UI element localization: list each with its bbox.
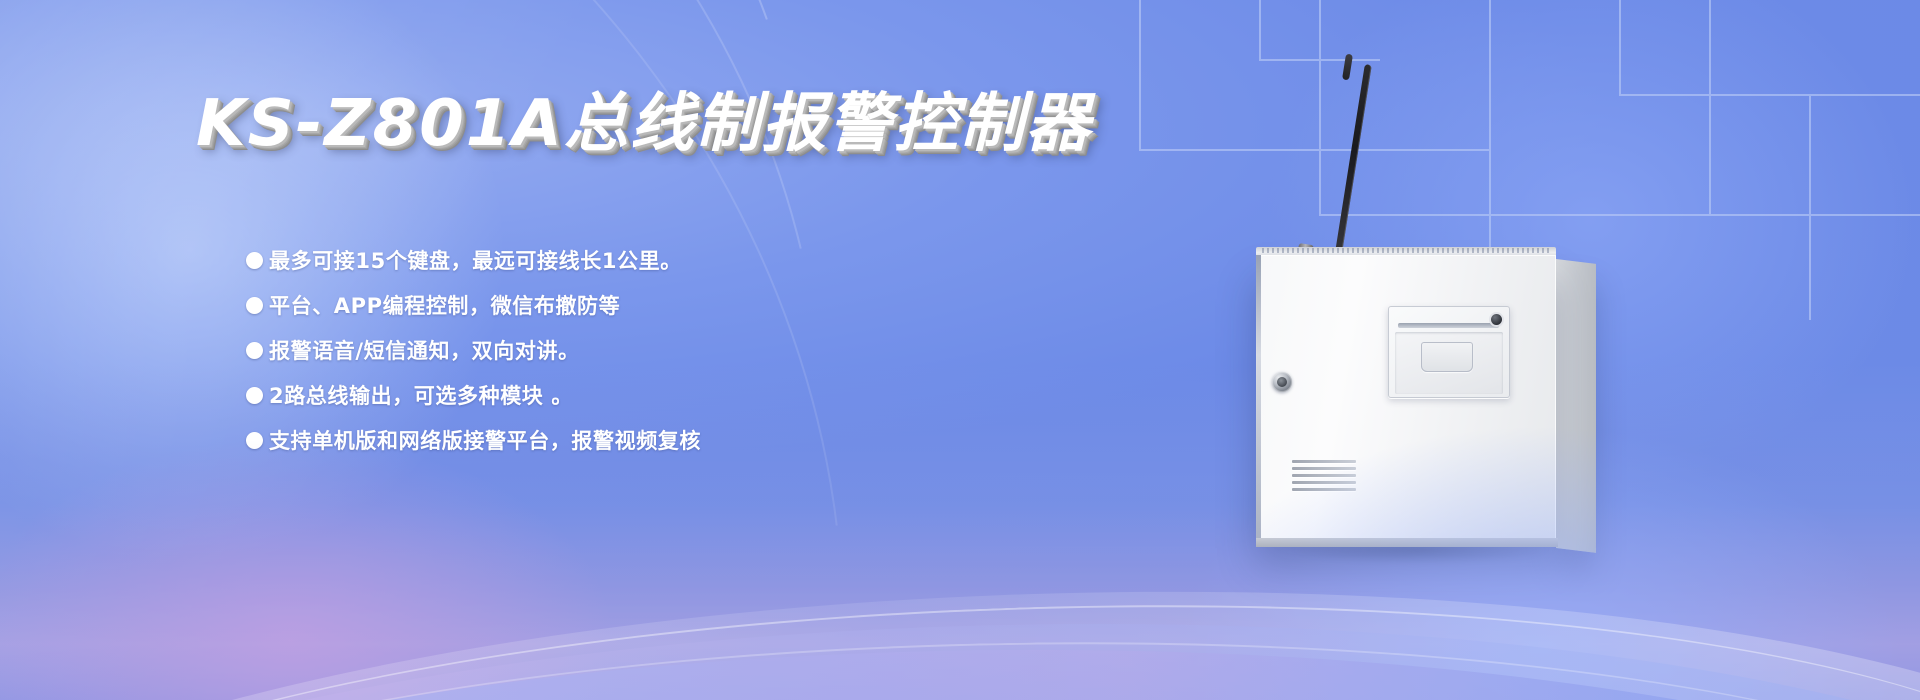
- lock-keyhole: [1277, 377, 1287, 387]
- feature-text: 最多可接15个键盘，最远可接线长1公里。: [269, 245, 682, 275]
- vent-slot: [1292, 488, 1356, 491]
- filled-circle-bullet-icon: [246, 252, 263, 269]
- ventilation-slots: [1292, 460, 1356, 496]
- filled-circle-bullet-icon: [246, 432, 263, 449]
- antenna-icon: [1332, 64, 1372, 273]
- display-slot: [1398, 323, 1499, 328]
- feature-text: 2路总线输出，可选多种模块 。: [269, 380, 573, 410]
- feature-text: 平台、APP编程控制，微信布撤防等: [269, 290, 620, 320]
- product-image: [1010, 60, 1570, 660]
- vent-slot: [1292, 474, 1356, 477]
- enclosure-top-perforations: [1262, 248, 1550, 253]
- filled-circle-bullet-icon: [246, 297, 263, 314]
- page-title: KS-Z801A总线制报警控制器: [196, 72, 1092, 164]
- feature-list: 最多可接15个键盘，最远可接线长1公里。 平台、APP编程控制，微信布撤防等 报…: [246, 238, 1046, 462]
- feature-text: 支持单机版和网络版接警平台，报警视频复核: [269, 425, 701, 455]
- enclosure-side-panel: [1556, 259, 1596, 553]
- filled-circle-bullet-icon: [246, 387, 263, 404]
- filled-circle-bullet-icon: [246, 342, 263, 359]
- vent-slot: [1292, 460, 1356, 463]
- vent-slot: [1292, 481, 1356, 484]
- cabinet-lock-icon: [1272, 372, 1292, 392]
- display-grip: [1421, 342, 1473, 372]
- enclosure-bottom-edge: [1256, 538, 1558, 547]
- status-led-icon: [1491, 314, 1502, 325]
- product-banner: KS-Z801A总线制报警控制器 最多可接15个键盘，最远可接线长1公里。 平台…: [0, 0, 1920, 700]
- feature-text: 报警语音/短信通知，双向对讲。: [269, 335, 580, 365]
- keypad-display-window: [1388, 306, 1510, 398]
- vent-slot: [1292, 467, 1356, 470]
- list-item: 报警语音/短信通知，双向对讲。: [246, 328, 1046, 372]
- list-item: 2路总线输出，可选多种模块 。: [246, 373, 1046, 417]
- list-item: 支持单机版和网络版接警平台，报警视频复核: [246, 418, 1046, 462]
- enclosure-door-seam: [1256, 255, 1261, 540]
- list-item: 最多可接15个键盘，最远可接线长1公里。: [246, 238, 1046, 282]
- list-item: 平台、APP编程控制，微信布撤防等: [246, 283, 1046, 327]
